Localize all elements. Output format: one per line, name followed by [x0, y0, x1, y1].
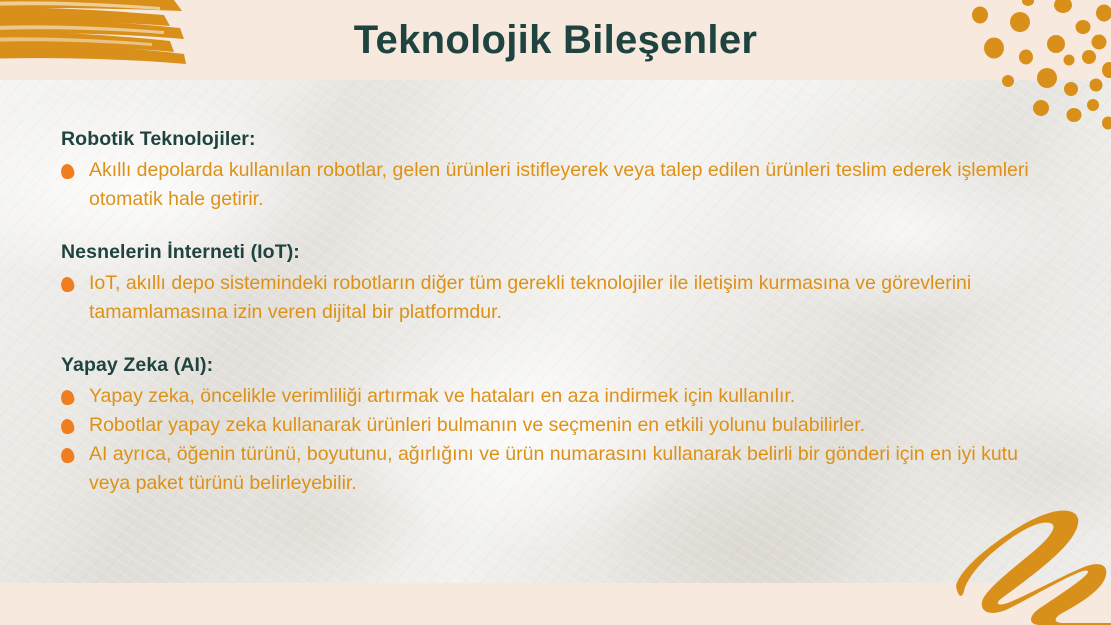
section-nesnelerin-interneti: Nesnelerin İnterneti (IoT): IoT, akıllı …: [58, 238, 1048, 327]
list-item: Akıllı depolarda kullanılan robotlar, ge…: [58, 156, 1048, 214]
bullet-text: Yapay zeka, öncelikle verimliliği artırm…: [89, 382, 1048, 411]
bullet-dot-icon: [59, 418, 75, 436]
slide-title-bar: Teknolojik Bileşenler: [0, 0, 1111, 80]
list-item: Robotlar yapay zeka kullanarak ürünleri …: [58, 411, 1048, 440]
bullet-text: Robotlar yapay zeka kullanarak ürünleri …: [89, 411, 1048, 440]
section-yapay-zeka: Yapay Zeka (AI): Yapay zeka, öncelikle v…: [58, 351, 1048, 498]
bullet-text: AI ayrıca, öğenin türünü, boyutunu, ağır…: [89, 440, 1048, 498]
section-heading: Nesnelerin İnterneti (IoT):: [61, 238, 1048, 266]
section-heading: Yapay Zeka (AI):: [61, 351, 1048, 379]
bullet-dot-icon: [59, 163, 75, 181]
list-item: Yapay zeka, öncelikle verimliliği artırm…: [58, 382, 1048, 411]
section-heading: Robotik Teknolojiler:: [61, 125, 1048, 153]
bullet-dot-icon: [59, 276, 75, 294]
slide-canvas: Teknolojik Bileşenler Robotik Teknolojil…: [0, 0, 1111, 625]
slide-content: Robotik Teknolojiler: Akıllı depolarda k…: [58, 125, 1048, 498]
bullet-dot-icon: [59, 447, 75, 465]
bullet-text: IoT, akıllı depo sistemindeki robotların…: [89, 269, 1048, 327]
zigzag-brush-bottom-right-icon: [936, 503, 1111, 625]
bullet-dot-icon: [59, 389, 75, 407]
bullet-text: Akıllı depolarda kullanılan robotlar, ge…: [89, 156, 1048, 214]
list-item: AI ayrıca, öğenin türünü, boyutunu, ağır…: [58, 440, 1048, 498]
page-title: Teknolojik Bileşenler: [354, 18, 757, 63]
list-item: IoT, akıllı depo sistemindeki robotların…: [58, 269, 1048, 327]
section-robotik-teknolojiler: Robotik Teknolojiler: Akıllı depolarda k…: [58, 125, 1048, 214]
